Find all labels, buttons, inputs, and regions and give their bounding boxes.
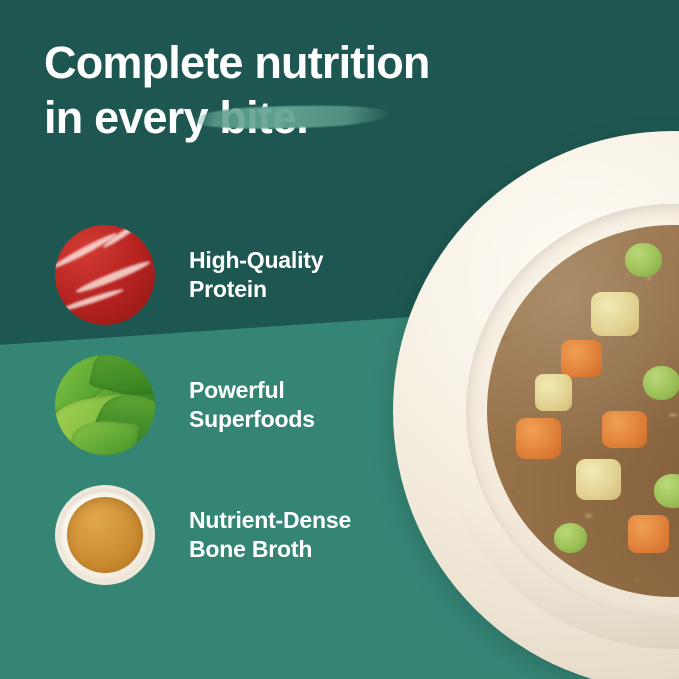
pea-chunk [554,523,588,553]
pea-chunk [643,366,679,400]
meat-marbling [60,287,125,313]
carrot-chunk [516,418,561,459]
pea-chunk [625,243,662,277]
feature-nutrient-dense-bone-broth: Nutrient-Dense Bone Broth [55,485,351,585]
carrot-chunk [602,411,647,448]
potato-chunk [535,374,572,411]
potato-chunk [576,459,621,500]
headline-line-1: Complete nutrition [44,36,514,91]
meat-marbling [55,231,118,271]
feature-powerful-superfoods: Powerful Superfoods [55,355,315,455]
bone-broth-bowl-icon [55,485,155,585]
spinach-leaves-icon [55,355,155,455]
potato-chunk [591,292,639,337]
carrot-chunk [628,515,669,552]
dog-food-bowl [393,131,679,679]
carrot-chunk [561,340,602,377]
broth-bowl-rim [59,489,151,581]
headline: Complete nutrition in every bite. [44,36,514,146]
feature-label: Nutrient-Dense Bone Broth [189,506,351,565]
feature-label: High-Quality Protein [189,246,323,305]
product-feature-graphic: Complete nutrition in every bite. High-Q… [0,0,679,679]
pea-chunk [654,474,679,508]
broth-liquid [67,497,142,572]
feature-high-quality-protein: High-Quality Protein [55,225,323,325]
bowl-interior [466,204,679,618]
raw-beef-icon [55,225,155,325]
feature-label: Powerful Superfoods [189,376,315,435]
food-mixture [487,225,679,598]
